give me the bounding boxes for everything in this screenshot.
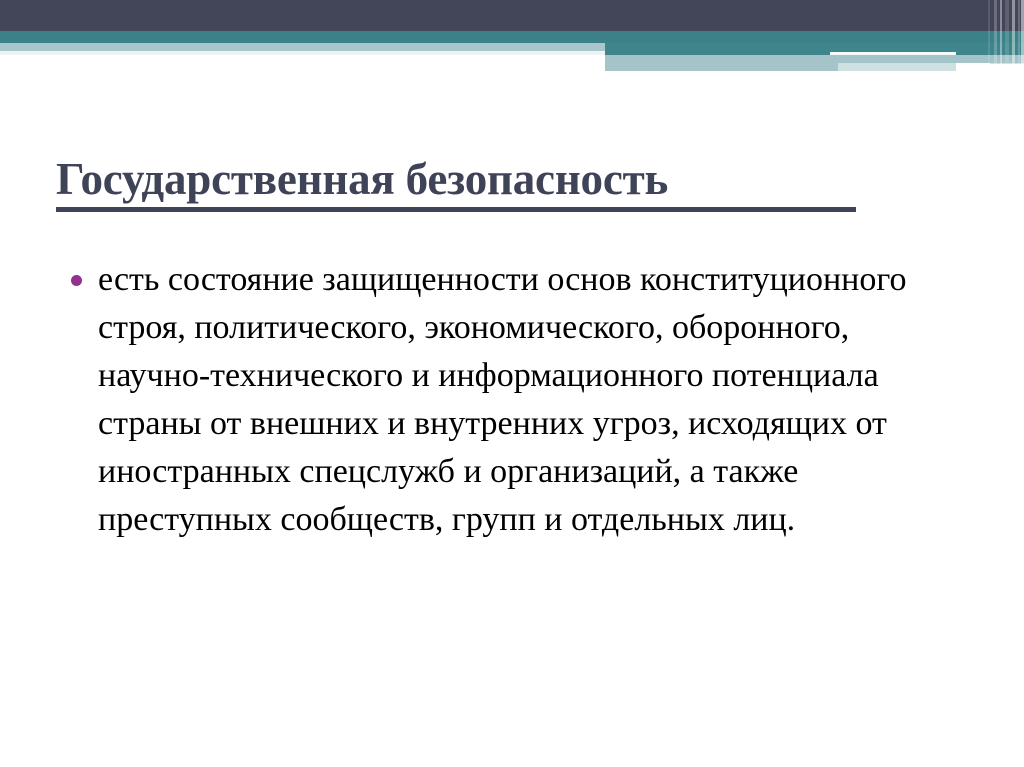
header-vertical-stripe	[988, 0, 990, 95]
header-vertical-stripe	[1005, 0, 1009, 95]
bullet-list: есть состояние защищенности основ консти…	[62, 256, 962, 544]
page-title: Государственная безопасность	[56, 153, 956, 205]
list-item: есть состояние защищенности основ консти…	[62, 256, 962, 544]
header-band-pale-right	[838, 63, 1024, 71]
header-decoration	[0, 0, 1024, 95]
title-block: Государственная безопасность	[56, 153, 956, 212]
header-band-dark	[0, 0, 1024, 31]
body-block: есть состояние защищенности основ консти…	[62, 256, 962, 544]
bullet-dot-icon	[71, 275, 82, 286]
title-underline-rule	[56, 207, 856, 212]
header-hairline-right	[830, 52, 956, 55]
slide-canvas: Государственная безопасность есть состоя…	[0, 0, 1024, 767]
header-band-teal-right	[605, 43, 1024, 55]
header-band-light-teal-right	[605, 55, 1024, 71]
header-stripe-mask	[988, 64, 1024, 95]
bullet-text: есть состояние защищенности основ консти…	[98, 256, 918, 544]
header-hairline-left	[0, 51, 605, 55]
header-vertical-stripe	[1012, 0, 1015, 95]
header-stripe-mask	[956, 63, 990, 95]
header-vertical-stripe	[994, 0, 997, 95]
header-vertical-stripe	[1000, 0, 1002, 95]
header-band-light-teal-left	[0, 43, 605, 51]
header-vertical-stripe	[1018, 0, 1020, 95]
header-band-teal	[0, 31, 1024, 43]
